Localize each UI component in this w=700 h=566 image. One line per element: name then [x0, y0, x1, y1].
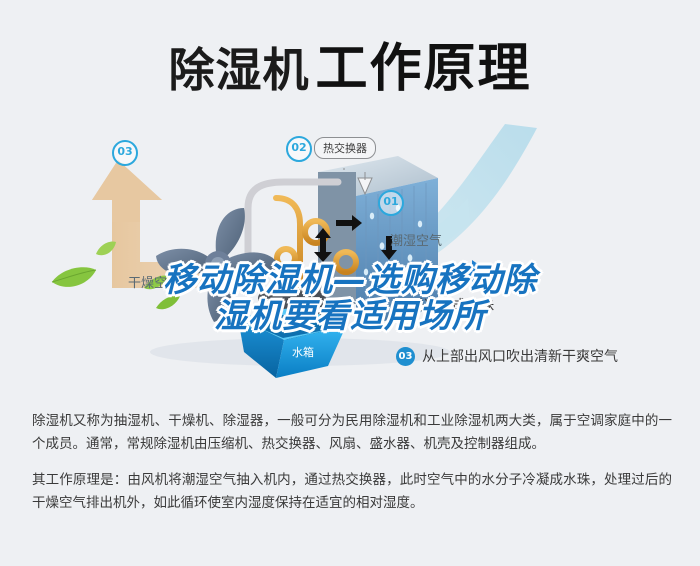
page-title-primary: 除湿机 — [168, 43, 309, 97]
body-paragraph-2: 其工作原理是：由风机将潮湿空气抽入机内，通过热交换器，此时空气中的水分子冷凝成水… — [32, 469, 672, 515]
label-water-tank: 水箱 — [292, 344, 314, 360]
article-body: 除湿机又称为抽湿机、干燥机、除湿器，一般可分为民用除湿机和工业除湿机两大类，属于… — [32, 410, 672, 515]
page-root: 除湿机工作原理 — [0, 0, 700, 566]
note-condensation: 发器冷凝成水珠 — [396, 295, 494, 315]
badge-step-02-heat-exchanger: 02 — [286, 136, 312, 162]
page-title-secondary: 工作原理 — [315, 39, 531, 99]
callout-heat-exchanger: 热交换器 — [314, 137, 376, 159]
label-humid-air: 潮湿空气 — [390, 230, 442, 249]
note-dry-air-output: 从上部出风口吹出清新干爽空气 — [422, 346, 618, 366]
page-title: 除湿机工作原理 — [0, 26, 700, 101]
badge-step-01-humid-air: 01 — [378, 190, 404, 216]
badge-step-03-dry-air: 03 — [112, 140, 138, 166]
label-dry-air: 干燥空气 — [128, 272, 180, 291]
body-paragraph-1: 除湿机又称为抽湿机、干燥机、除湿器，一般可分为民用除湿机和工业除湿机两大类，属于… — [32, 410, 672, 456]
dehumidifier-diagram: 03 干燥空气 02 热交换器 01 潮湿空气 水箱 发器冷凝成水珠 03 从上… — [0, 112, 700, 400]
badge-note-03: 03 — [396, 347, 415, 366]
